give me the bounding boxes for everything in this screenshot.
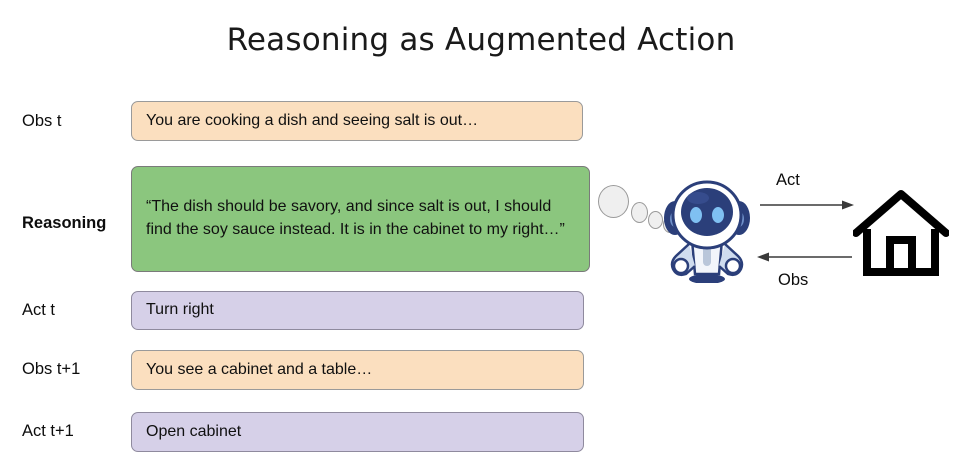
obs-arrow-icon [757, 250, 852, 264]
thought-bubble-icon-1 [598, 185, 629, 218]
obs-arrow-label: Obs [778, 271, 808, 290]
action-box-t: Turn right [131, 291, 584, 330]
reasoning-box: “The dish should be savory, and since sa… [131, 166, 590, 272]
row-label-obs-t1: Obs t+1 [22, 360, 80, 379]
thought-bubble-icon-3 [648, 211, 663, 229]
act-arrow-icon [760, 198, 855, 212]
observation-box-t1: You see a cabinet and a table… [131, 350, 584, 390]
row-label-act-t1: Act t+1 [22, 422, 74, 441]
reasoning-text: “The dish should be savory, and since sa… [146, 196, 575, 241]
robot-icon [662, 178, 752, 283]
observation-text-t: You are cooking a dish and seeing salt i… [146, 110, 478, 133]
action-box-t1: Open cabinet [131, 412, 584, 452]
page-title: Reasoning as Augmented Action [0, 22, 962, 58]
action-text-t: Turn right [146, 299, 214, 322]
row-label-obs-t: Obs t [22, 112, 61, 131]
slide-canvas: Reasoning as Augmented Action Obs t Reas… [0, 0, 962, 473]
action-text-t1: Open cabinet [146, 421, 241, 444]
thought-bubble-icon-2 [631, 202, 648, 223]
observation-text-t1: You see a cabinet and a table… [146, 359, 372, 382]
act-arrow-label: Act [776, 171, 800, 190]
house-icon [853, 189, 949, 277]
row-label-reasoning: Reasoning [22, 214, 106, 233]
observation-box-t: You are cooking a dish and seeing salt i… [131, 101, 583, 141]
row-label-act-t: Act t [22, 301, 55, 320]
